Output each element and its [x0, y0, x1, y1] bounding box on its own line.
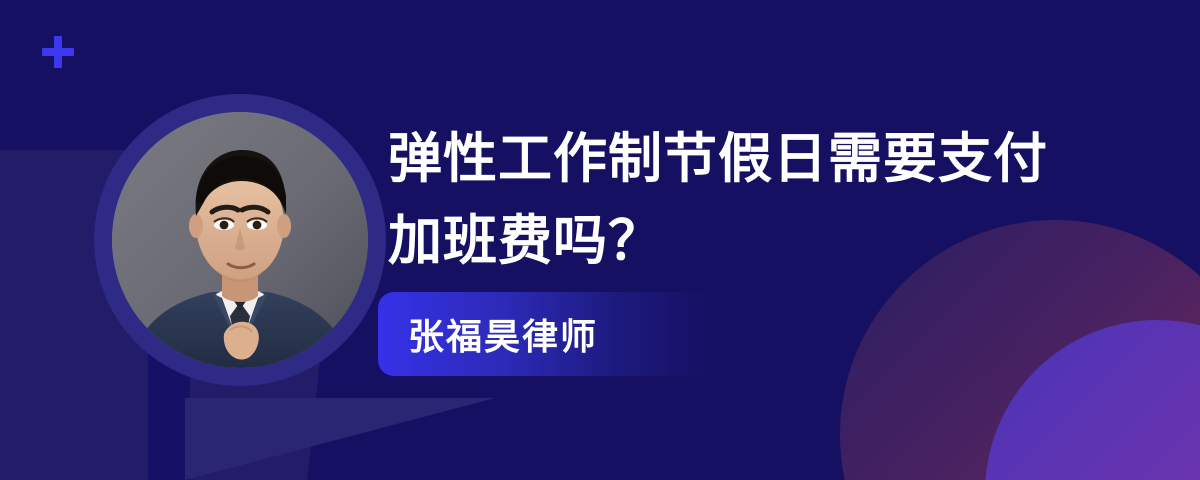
author-badge[interactable]: 张福昊律师: [378, 292, 716, 376]
plus-icon: [42, 36, 74, 68]
text-content: 弹性工作制节假日需要支付加班费吗？: [388, 118, 1088, 282]
avatar: [94, 94, 386, 386]
avatar-photo: [112, 112, 368, 368]
promo-card: 弹性工作制节假日需要支付加班费吗？ 张福昊律师: [0, 0, 1200, 480]
author-name-label: 张福昊律师: [378, 308, 598, 360]
page-title: 弹性工作制节假日需要支付加班费吗？: [388, 118, 1088, 282]
triangle-wedge-shape: [185, 398, 495, 480]
